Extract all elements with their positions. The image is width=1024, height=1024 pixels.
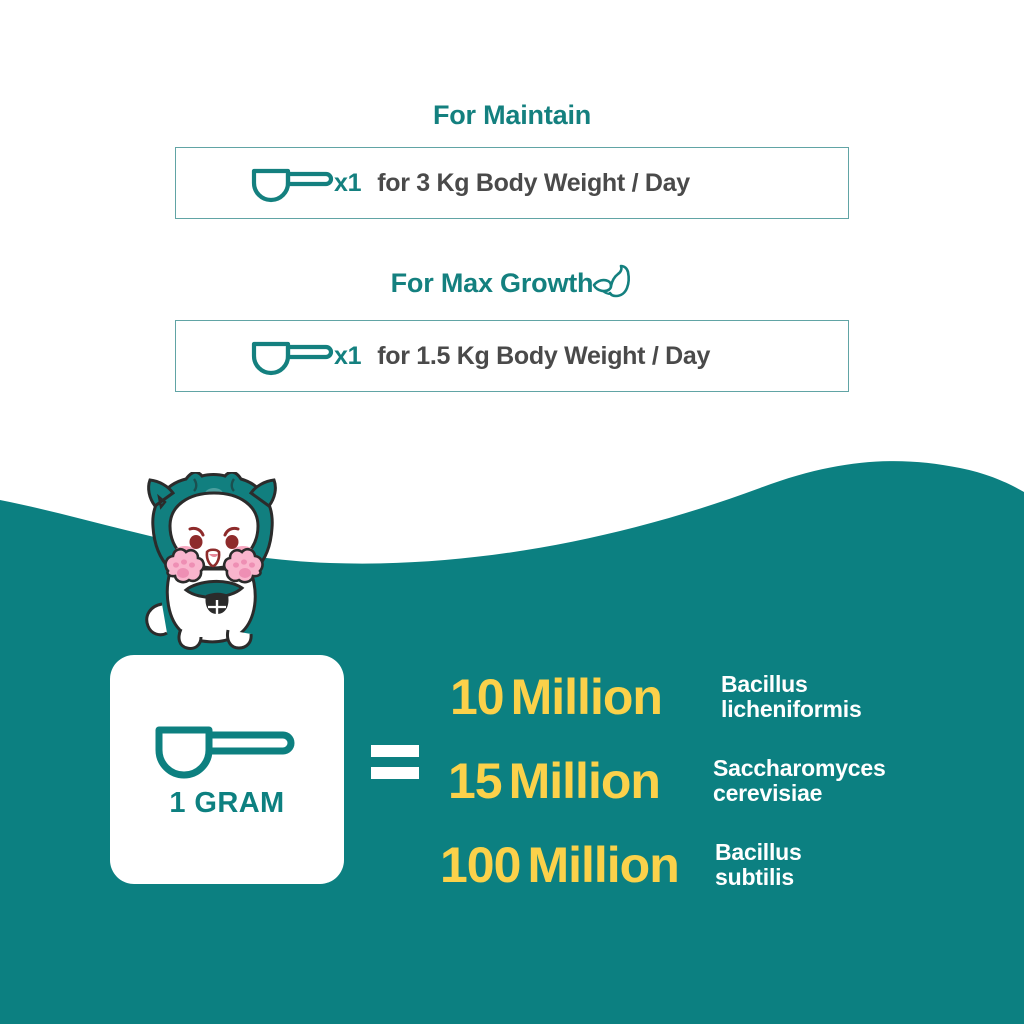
dosage-heading-text: For Max Growth bbox=[391, 268, 594, 298]
dosage-multiplier: x1 bbox=[334, 169, 361, 198]
strain-amount-number: 10 bbox=[450, 668, 504, 726]
strain-amount-number: 100 bbox=[440, 836, 520, 894]
equals-bar-bottom bbox=[371, 767, 419, 779]
scoop-icon bbox=[151, 719, 303, 781]
dosage-box-maintain: x1 for 3 Kg Body Weight / Day bbox=[175, 147, 849, 219]
strain-row: 100 Million Bacillus subtilis bbox=[440, 823, 980, 907]
dosage-heading-max-growth: For Max Growth bbox=[0, 262, 1024, 300]
strain-name: Saccharomyces cerevisiae bbox=[713, 756, 886, 805]
dosage-description: for 1.5 Kg Body Weight / Day bbox=[377, 342, 710, 371]
strain-name-line1: Saccharomyces bbox=[713, 755, 886, 781]
one-gram-label: 1 GRAM bbox=[169, 787, 284, 820]
strain-name: Bacillus licheniformis bbox=[721, 672, 862, 721]
strain-amount-unit: Million bbox=[527, 836, 678, 894]
infographic-canvas: For Maintain x1 for 3 Kg Body Weight / D… bbox=[0, 0, 1024, 1024]
strain-amount-unit: Million bbox=[511, 668, 662, 726]
strain-amount-number: 15 bbox=[448, 752, 502, 810]
strain-amount-unit: Million bbox=[509, 752, 660, 810]
strain-name-line1: Bacillus bbox=[715, 839, 802, 865]
equals-icon bbox=[371, 745, 419, 781]
strain-row: 10 Million Bacillus licheniformis bbox=[440, 655, 980, 739]
strain-name: Bacillus subtilis bbox=[715, 840, 802, 889]
dosage-heading-maintain: For Maintain bbox=[0, 98, 1024, 136]
dosage-description: for 3 Kg Body Weight / Day bbox=[377, 169, 690, 198]
strain-amount: 100 Million bbox=[440, 836, 693, 894]
strain-amount: 15 Million bbox=[448, 752, 701, 810]
dosage-block-max-growth: For Max Growth x1 for 1.5 Kg Body Weight… bbox=[0, 262, 1024, 300]
flexed-biceps-icon bbox=[591, 262, 633, 302]
dosage-block-maintain: For Maintain x1 for 3 Kg Body Weight / D… bbox=[0, 98, 1024, 136]
strain-name-line1: Bacillus bbox=[721, 671, 808, 697]
strain-name-line2: subtilis bbox=[715, 864, 794, 890]
cat-mascot-icon bbox=[128, 472, 294, 660]
dosage-box-max-growth: x1 for 1.5 Kg Body Weight / Day bbox=[175, 320, 849, 392]
one-gram-card: 1 GRAM bbox=[110, 655, 344, 884]
scoop-icon bbox=[248, 163, 338, 203]
dosage-multiplier: x1 bbox=[334, 342, 361, 371]
strain-name-line2: licheniformis bbox=[721, 696, 862, 722]
strain-row: 15 Million Saccharomyces cerevisiae bbox=[440, 739, 980, 823]
equals-bar-top bbox=[371, 745, 419, 757]
dosage-heading-text: For Maintain bbox=[433, 100, 591, 130]
strain-name-line2: cerevisiae bbox=[713, 780, 822, 806]
strain-list: 10 Million Bacillus licheniformis 15 Mil… bbox=[440, 655, 980, 907]
strain-amount: 10 Million bbox=[450, 668, 703, 726]
scoop-icon bbox=[248, 336, 338, 376]
